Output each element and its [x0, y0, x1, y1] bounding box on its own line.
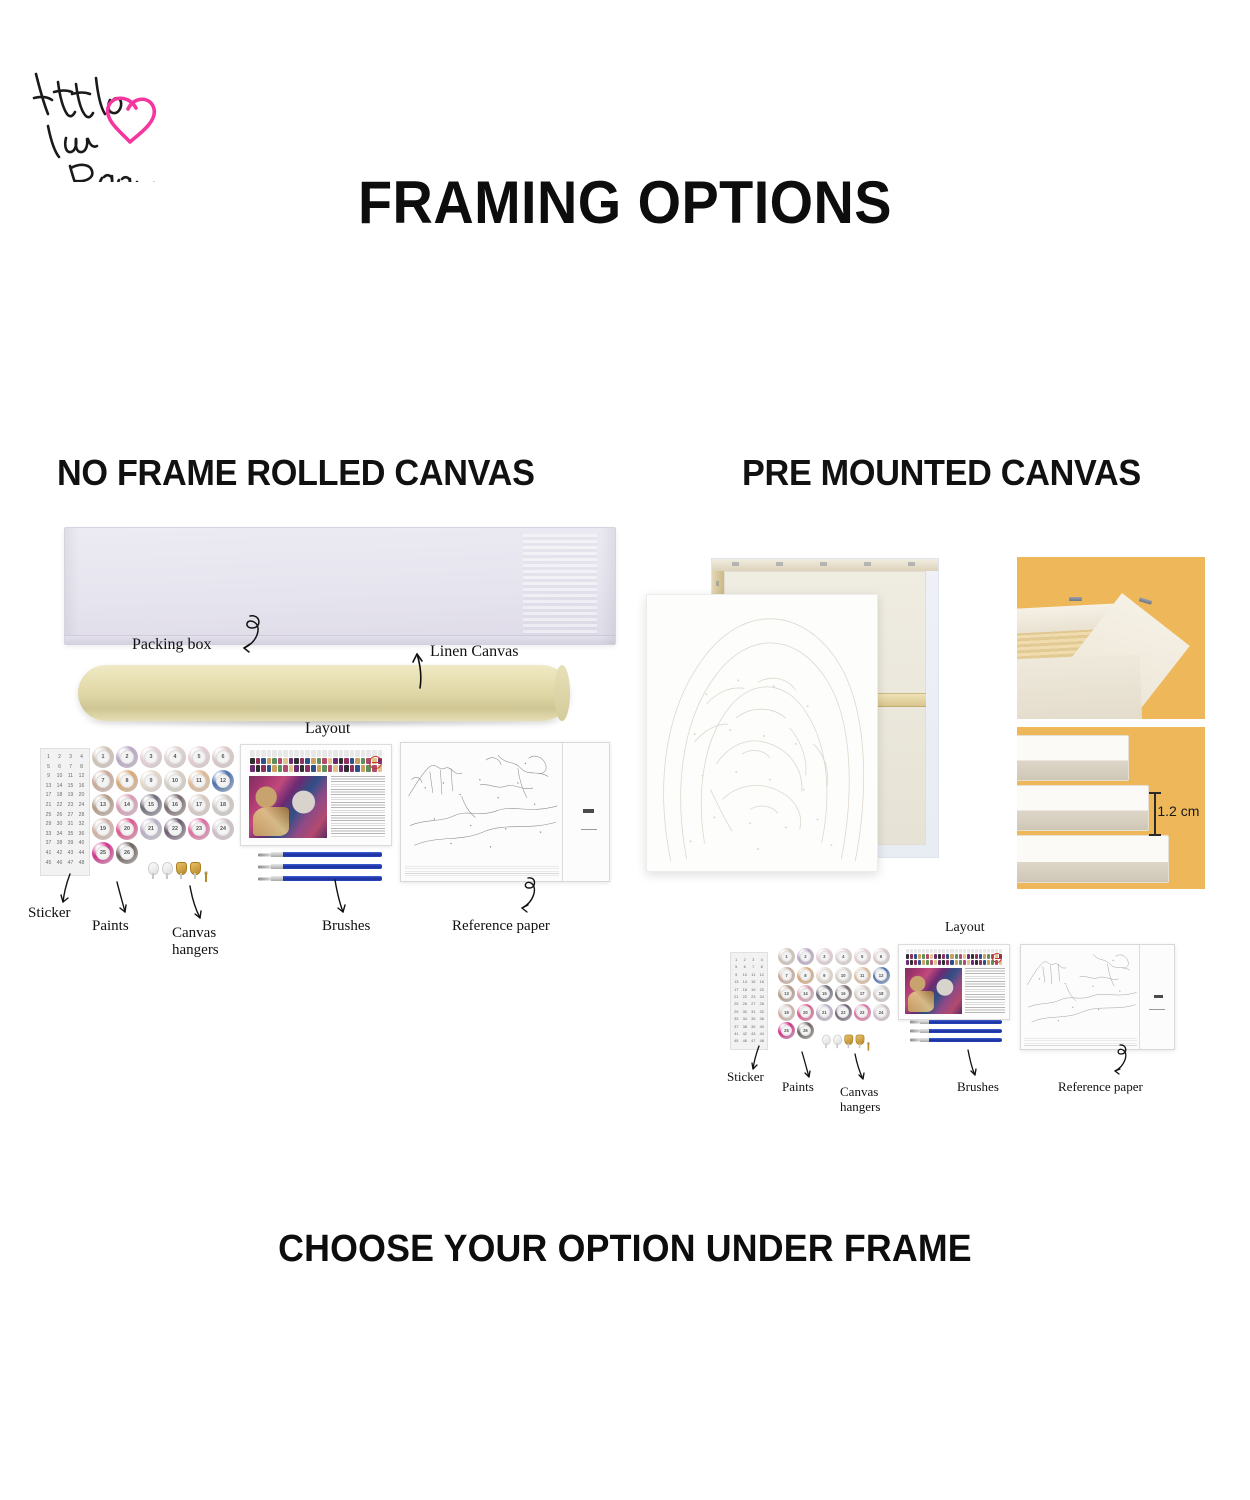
sticker-number: 29 [43, 820, 54, 830]
color-swatch [938, 949, 941, 954]
paint-pot: 11 [854, 967, 871, 984]
color-swatch [942, 960, 945, 965]
color-swatch [350, 765, 355, 772]
paint-pot-number: 26 [124, 850, 130, 856]
hanger-hook-gold [856, 1035, 865, 1045]
paint-pot-lid: 2 [800, 951, 812, 963]
brush [910, 1020, 1002, 1024]
paint-pot-lid: 14 [800, 988, 812, 1000]
paint-pot-number: 25 [100, 850, 106, 856]
paint-pot-number: 14 [803, 991, 808, 996]
sticker-sheet-left: 1234567891011121314151617181920212223242… [40, 748, 90, 876]
paint-pot-number: 6 [880, 954, 882, 959]
paint-pots-left: 1234567891011121314151617181920212223242… [92, 746, 234, 864]
paper-code-bar [583, 809, 594, 813]
color-swatch [289, 750, 294, 757]
instruction-text-block [331, 776, 385, 838]
color-swatch [967, 960, 970, 965]
color-swatch [926, 960, 929, 965]
label-brushes-right: Brushes [957, 1080, 999, 1095]
color-swatch [975, 954, 978, 959]
color-swatch [975, 960, 978, 965]
paint-pot-number: 2 [126, 754, 129, 760]
reference-paper-left [400, 742, 610, 882]
color-swatch [999, 949, 1002, 954]
sticker-number: 42 [54, 849, 65, 859]
sticker-number: 14 [741, 978, 750, 985]
paint-pot-lid: 19 [781, 1006, 793, 1018]
framing-options-infographic: FRAMING OPTIONS NO FRAME ROLLED CANVAS P… [0, 0, 1250, 1500]
sticker-number: 15 [65, 782, 76, 792]
color-swatch [350, 758, 355, 765]
hanger-hook-gold [844, 1035, 853, 1045]
label-paints-left: Paints [92, 918, 129, 935]
sticker-number: 11 [65, 772, 76, 782]
sticker-number: 43 [749, 1030, 758, 1037]
color-swatch [267, 750, 272, 757]
sticker-number: 42 [741, 1030, 750, 1037]
color-swatch [278, 758, 283, 765]
color-swatch [339, 750, 344, 757]
paint-pot: 9 [140, 770, 162, 792]
paint-pot-number: 26 [803, 1028, 808, 1033]
paint-pot: 26 [116, 842, 138, 864]
paint-pot: 18 [212, 794, 234, 816]
color-swatch [967, 954, 970, 959]
sticker-number: 5 [43, 763, 54, 773]
paint-pot-number: 5 [861, 954, 863, 959]
staple [1139, 597, 1153, 604]
paint-pot-number: 4 [174, 754, 177, 760]
paint-pot-lid: 2 [120, 750, 135, 765]
color-swatch [938, 960, 941, 965]
color-swatch [339, 765, 344, 772]
paint-pot-number: 7 [102, 778, 105, 784]
color-swatch [355, 758, 360, 765]
paint-pot-number: 20 [803, 1010, 808, 1015]
color-swatch [350, 750, 355, 757]
paint-pot-lid: 17 [856, 988, 868, 1000]
sticker-number: 28 [76, 811, 87, 821]
sticker-number: 39 [65, 839, 76, 849]
color-swatch [283, 765, 288, 772]
canvas-inner-surface [1017, 655, 1142, 719]
paint-pot-lid: 26 [120, 846, 135, 861]
color-swatch [294, 750, 299, 757]
sticker-number: 18 [741, 986, 750, 993]
paint-pot-number: 8 [804, 973, 806, 978]
paint-pot: 14 [797, 985, 814, 1002]
paint-pot-lid: 16 [168, 798, 183, 813]
sticker-number: 31 [65, 820, 76, 830]
paint-pot: 8 [797, 967, 814, 984]
sticker-number: 15 [749, 978, 758, 985]
painting-preview-thumbnail [249, 776, 327, 838]
paint-pot-number: 8 [126, 778, 129, 784]
sticker-number: 36 [76, 830, 87, 840]
color-swatch [250, 765, 255, 772]
paint-pot-lid: 6 [216, 750, 231, 765]
paint-pot-number: 16 [841, 991, 846, 996]
paint-pot: 23 [188, 818, 210, 840]
paint-pot: 18 [873, 985, 890, 1002]
paint-pot: 19 [778, 1004, 795, 1021]
paint-pot-number: 18 [220, 802, 226, 808]
paint-pot: 15 [816, 985, 833, 1002]
color-swatch [987, 960, 990, 965]
paint-pot-number: 4 [842, 954, 844, 959]
color-swatch [261, 765, 266, 772]
sticker-number: 11 [749, 971, 758, 978]
color-swatch [983, 960, 986, 965]
color-swatch [950, 960, 953, 965]
arrow-brushes-right [964, 1048, 982, 1078]
color-swatch [918, 954, 921, 959]
color-swatch [955, 954, 958, 959]
color-swatch-grid [906, 949, 1003, 965]
canvas-thickness-photo: 1.2 cm [1017, 727, 1205, 889]
brushes-left [258, 852, 382, 888]
sticker-number: 44 [758, 1030, 767, 1037]
hanger-nail [867, 1042, 870, 1045]
color-swatch [987, 954, 990, 959]
color-swatch [934, 954, 937, 959]
sticker-number: 26 [54, 811, 65, 821]
paint-pot-lid: 3 [144, 750, 159, 765]
paint-pot-lid: 25 [781, 1025, 793, 1037]
sticker-number: 31 [749, 1008, 758, 1015]
color-swatch [983, 949, 986, 954]
sticker-number: 20 [76, 791, 87, 801]
sticker-number: 10 [54, 772, 65, 782]
sticker-number: 48 [758, 1037, 767, 1044]
color-swatch [311, 765, 316, 772]
paint-pot-number: 19 [100, 826, 106, 832]
sticker-number: 9 [732, 971, 741, 978]
color-swatch [979, 960, 982, 965]
color-swatch [344, 750, 349, 757]
sticker-number: 22 [741, 993, 750, 1000]
sticker-number: 38 [741, 1023, 750, 1030]
color-swatch [272, 750, 277, 757]
swatch-row [250, 758, 382, 765]
paint-pot-lid: 17 [192, 798, 207, 813]
sticker-number: 24 [76, 801, 87, 811]
color-swatch [963, 960, 966, 965]
sticker-number: 16 [76, 782, 87, 792]
canvas-slab [1017, 785, 1149, 831]
layout-reference-card-left [240, 744, 392, 846]
paint-pot-lid: 23 [856, 1006, 868, 1018]
paint-pot: 1 [778, 948, 795, 965]
paint-pot-number: 18 [879, 991, 884, 996]
paint-pot-number: 11 [196, 778, 202, 784]
sticker-number: 46 [741, 1037, 750, 1044]
sticker-number: 27 [65, 811, 76, 821]
packing-box-image [64, 527, 616, 645]
color-swatch [305, 758, 310, 765]
sticker-number: 3 [749, 956, 758, 963]
color-swatch [906, 954, 909, 959]
sticker-number: 33 [43, 830, 54, 840]
sticker-number: 6 [54, 763, 65, 773]
paint-pot-lid: 11 [856, 969, 868, 981]
paint-pot-number: 15 [822, 991, 827, 996]
canvas-hangers-right [822, 1035, 870, 1045]
color-swatch [361, 758, 366, 765]
sticker-number: 2 [741, 956, 750, 963]
sticker-number: 21 [732, 993, 741, 1000]
color-swatch [333, 750, 338, 757]
color-swatch [914, 949, 917, 954]
linen-canvas-roll-image [78, 665, 570, 721]
color-swatch [344, 758, 349, 765]
sticker-number: 34 [741, 1015, 750, 1022]
color-swatch [361, 765, 366, 772]
sticker-number: 37 [43, 839, 54, 849]
color-swatch [317, 765, 322, 772]
color-swatch [272, 758, 277, 765]
color-swatch [922, 960, 925, 965]
color-swatch [963, 949, 966, 954]
sticker-number: 23 [749, 993, 758, 1000]
thickness-label: 1.2 cm [1157, 803, 1199, 819]
canvas-hangers-left [148, 862, 208, 875]
sticker-number: 29 [732, 1008, 741, 1015]
color-swatch [930, 949, 933, 954]
color-swatch [333, 758, 338, 765]
sticker-number: 5 [732, 963, 741, 970]
arrow-canvas-hangers-right [852, 1052, 870, 1082]
sticker-number: 32 [758, 1008, 767, 1015]
line-art-drawing [1026, 948, 1138, 1034]
paint-pot: 24 [873, 1004, 890, 1021]
sticker-number: 8 [76, 763, 87, 773]
sticker-number: 44 [76, 849, 87, 859]
color-swatch [946, 949, 949, 954]
paint-pot: 22 [164, 818, 186, 840]
hanger-hook [822, 1035, 831, 1045]
color-swatch [918, 949, 921, 954]
paint-pot-number: 7 [785, 973, 787, 978]
sticker-number: 4 [758, 956, 767, 963]
paint-pot: 9 [816, 967, 833, 984]
paint-pot-lid: 5 [856, 951, 868, 963]
sticker-number: 34 [54, 830, 65, 840]
color-swatch [366, 750, 371, 757]
swatch-row [250, 750, 382, 757]
paint-pot: 4 [835, 948, 852, 965]
color-swatch [910, 954, 913, 959]
paint-pot: 7 [778, 967, 795, 984]
instruction-text-block [965, 968, 1005, 1014]
arrow-sticker-left [56, 872, 78, 906]
color-swatch [983, 954, 986, 959]
brush [258, 864, 382, 869]
paint-pot: 6 [212, 746, 234, 768]
paint-pot: 23 [854, 1004, 871, 1021]
paint-pot-number: 2 [804, 954, 806, 959]
color-swatch [906, 949, 909, 954]
color-swatch [971, 960, 974, 965]
sticker-number: 1 [732, 956, 741, 963]
paint-pot-number: 6 [222, 754, 225, 760]
brand-logo [18, 42, 198, 182]
color-swatch [938, 954, 941, 959]
paint-pot-number: 24 [879, 1010, 884, 1015]
sticker-number: 41 [43, 849, 54, 859]
sticker-number: 13 [43, 782, 54, 792]
color-swatch [261, 750, 266, 757]
sticker-number: 16 [758, 978, 767, 985]
paint-pot-lid: 5 [192, 750, 207, 765]
color-swatch [979, 954, 982, 959]
color-swatch [289, 765, 294, 772]
paint-pot-lid: 18 [216, 798, 231, 813]
sticker-number: 25 [43, 811, 54, 821]
color-swatch [930, 954, 933, 959]
paint-pot-number: 11 [860, 973, 864, 978]
arrow-canvas-hangers-left [186, 884, 208, 922]
color-swatch [979, 949, 982, 954]
sticker-number: 48 [76, 859, 87, 869]
color-swatch [339, 758, 344, 765]
sticker-number: 23 [65, 801, 76, 811]
label-canvas-hangers-left: Canvas hangers [172, 925, 219, 959]
sticker-number: 36 [758, 1015, 767, 1022]
paint-pot: 17 [188, 794, 210, 816]
label-layout-right: Layout [945, 920, 985, 936]
paint-pot-number: 21 [148, 826, 154, 832]
color-swatch [987, 949, 990, 954]
paint-pot: 19 [92, 818, 114, 840]
color-swatch [355, 750, 360, 757]
sticker-number: 35 [749, 1015, 758, 1022]
box-ribs [523, 534, 597, 638]
color-swatch [926, 954, 929, 959]
paint-pot-number: 23 [196, 826, 202, 832]
hanger-hook-gold [190, 862, 201, 875]
paint-pot: 13 [778, 985, 795, 1002]
color-swatch [922, 949, 925, 954]
sticker-number: 27 [749, 1000, 758, 1007]
canvas-corner-closeup-photo [1017, 557, 1205, 719]
paint-pot: 24 [212, 818, 234, 840]
label-paints-right: Paints [782, 1080, 814, 1095]
brush [258, 876, 382, 881]
color-swatch [926, 949, 929, 954]
paint-pot: 5 [854, 948, 871, 965]
paint-pot-lid: 4 [837, 951, 849, 963]
paint-pot: 11 [188, 770, 210, 792]
paint-pot: 2 [116, 746, 138, 768]
color-swatch [300, 750, 305, 757]
color-swatch [256, 758, 261, 765]
paint-pot-number: 3 [150, 754, 153, 760]
color-swatch [946, 960, 949, 965]
sticker-number: 21 [43, 801, 54, 811]
color-swatch [328, 765, 333, 772]
brush [258, 852, 382, 857]
paper-code-bar [1154, 995, 1163, 998]
paint-pot-number: 17 [860, 991, 865, 996]
color-swatch [283, 750, 288, 757]
paint-pot-lid: 8 [800, 969, 812, 981]
no-wash-symbol-icon [369, 756, 382, 769]
color-swatch [971, 954, 974, 959]
color-swatch [955, 960, 958, 965]
paint-pot-lid: 18 [875, 988, 887, 1000]
paint-pot: 25 [92, 842, 114, 864]
color-swatch [959, 960, 962, 965]
section-heading-no-frame-rolled-canvas: NO FRAME ROLLED CANVAS [57, 452, 535, 494]
sticker-number: 22 [54, 801, 65, 811]
paint-pot-lid: 11 [192, 774, 207, 789]
sticker-number: 19 [65, 791, 76, 801]
sticker-number: 18 [54, 791, 65, 801]
paint-pot: 13 [92, 794, 114, 816]
color-swatch [910, 949, 913, 954]
brush [910, 1029, 1002, 1033]
color-swatch [300, 758, 305, 765]
color-swatch [955, 949, 958, 954]
paper-dash-mark [1149, 1009, 1165, 1010]
sticker-number: 39 [749, 1023, 758, 1030]
pre-printed-canvas-front [646, 594, 878, 872]
paint-pot-number: 21 [822, 1010, 827, 1015]
paper-edge-lines [405, 866, 559, 878]
color-swatch [294, 765, 299, 772]
paint-pot-number: 12 [879, 973, 884, 978]
paint-pot: 10 [835, 967, 852, 984]
section-heading-pre-mounted-canvas: PRE MOUNTED CANVAS [742, 452, 1141, 494]
layout-reference-card-right [898, 944, 1010, 1020]
color-swatch [930, 960, 933, 965]
sticker-number: 1 [43, 753, 54, 763]
paper-fold-line [1139, 945, 1140, 1049]
color-swatch-grid [250, 750, 382, 772]
sticker-number: 46 [54, 859, 65, 869]
paint-pot-lid: 13 [781, 988, 793, 1000]
paint-pot: 15 [140, 794, 162, 816]
hanger-hook [162, 862, 173, 875]
paint-pot: 25 [778, 1022, 795, 1039]
color-swatch [914, 960, 917, 965]
brushes-right [910, 1020, 1002, 1047]
paper-edge-lines [1024, 1038, 1137, 1047]
sticker-number: 10 [741, 971, 750, 978]
footer-cta: CHOOSE YOUR OPTION UNDER FRAME [38, 1228, 1213, 1271]
paint-pot-number: 20 [124, 826, 130, 832]
color-swatch [267, 758, 272, 765]
sticker-number: 32 [76, 820, 87, 830]
paint-pot-number: 10 [172, 778, 178, 784]
color-swatch [361, 750, 366, 757]
sticker-number: 47 [749, 1037, 758, 1044]
sticker-number: 14 [54, 782, 65, 792]
paint-pot: 14 [116, 794, 138, 816]
paint-pot-lid: 25 [96, 846, 111, 861]
staples-top [712, 562, 938, 566]
paint-pot-number: 22 [172, 826, 178, 832]
paint-pot-number: 1 [102, 754, 105, 760]
sticker-number: 25 [732, 1000, 741, 1007]
color-swatch [272, 765, 277, 772]
color-swatch [278, 765, 283, 772]
paint-pot-number: 14 [124, 802, 130, 808]
reference-paper-right [1020, 944, 1175, 1050]
sticker-number: 19 [749, 986, 758, 993]
